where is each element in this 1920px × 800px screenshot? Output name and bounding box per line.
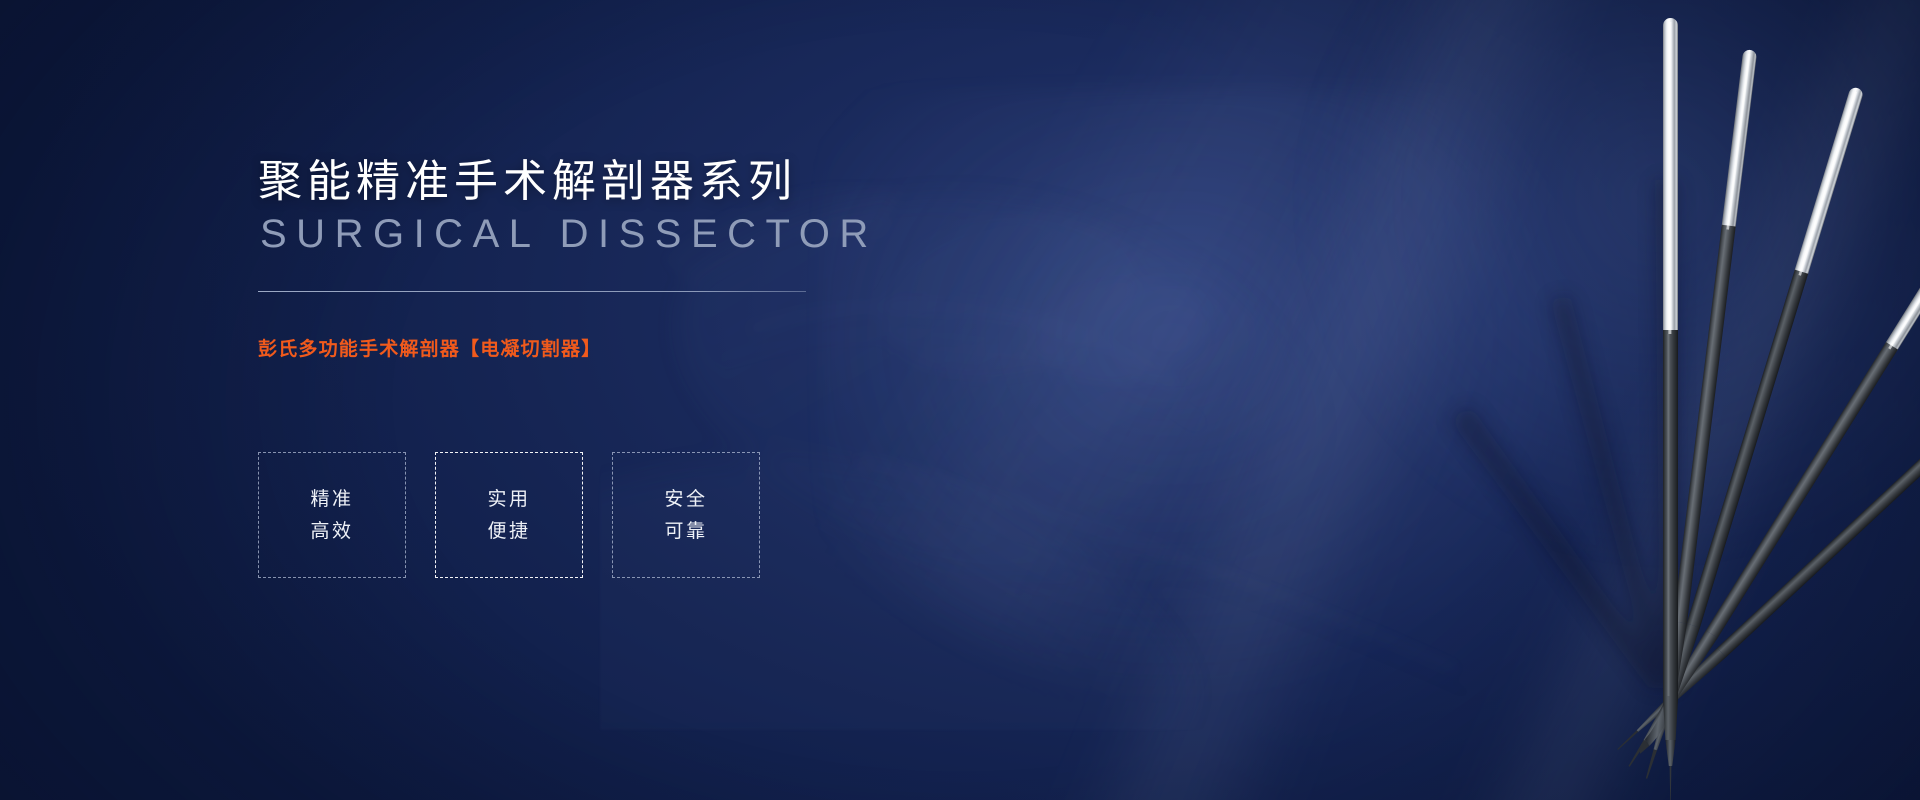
page-subtitle-english: SURGICAL DISSECTOR <box>260 212 878 257</box>
feature-badge-list: 精准 高效 实用 便捷 安全 可靠 <box>258 452 760 578</box>
product-name-label: 彭氏多功能手术解剖器【电凝切割器】 <box>258 334 601 361</box>
feature-badge-line2: 可靠 <box>664 522 707 541</box>
feature-badge-practical: 实用 便捷 <box>435 452 583 578</box>
feature-badge-line1: 精准 <box>310 490 353 509</box>
feature-badge-line1: 实用 <box>487 490 530 509</box>
feature-badge-precision: 精准 高效 <box>258 452 406 578</box>
feature-badge-line2: 便捷 <box>487 522 530 541</box>
product-image-surgical-dissectors <box>1150 0 1920 800</box>
hero-banner: 聚能精准手术解剖器系列 SURGICAL DISSECTOR 彭氏多功能手术解剖… <box>0 0 1920 800</box>
feature-badge-safety: 安全 可靠 <box>612 452 760 578</box>
page-title: 聚能精准手术解剖器系列 <box>258 145 797 209</box>
feature-badge-line1: 安全 <box>664 490 707 509</box>
feature-badge-line2: 高效 <box>310 522 353 541</box>
dissector-5 <box>1663 18 1678 800</box>
banner-text-block: 聚能精准手术解剖器系列 SURGICAL DISSECTOR 彭氏多功能手术解剖… <box>258 0 1018 800</box>
title-divider <box>258 291 806 292</box>
